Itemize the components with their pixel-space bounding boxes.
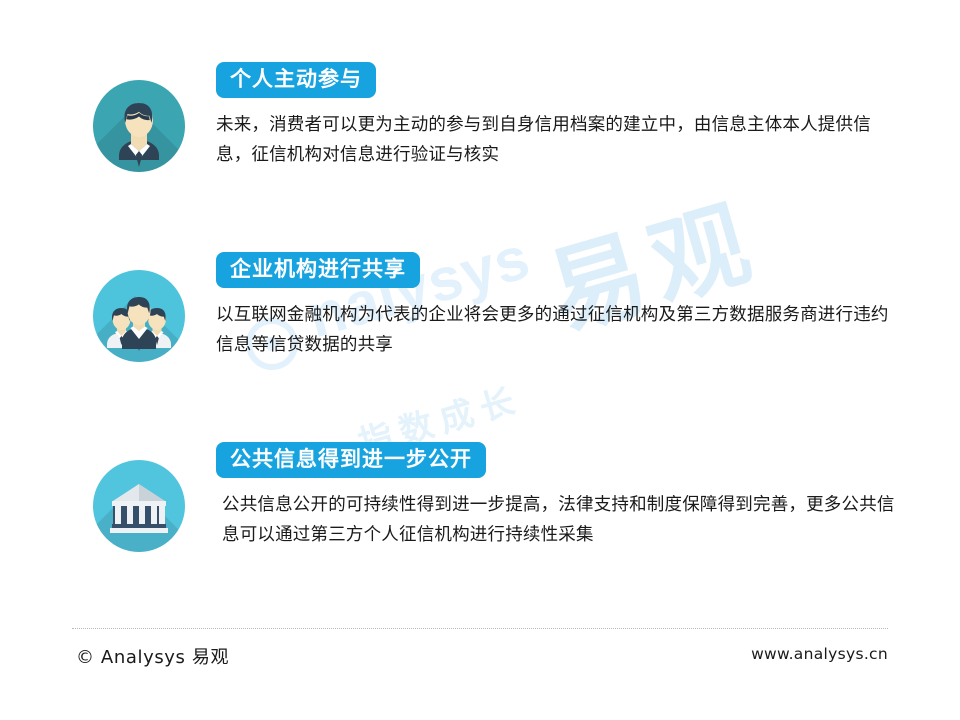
icon-circle-background (93, 80, 185, 172)
group-of-people-icon (93, 270, 185, 362)
section-icon-bank (93, 460, 185, 552)
businessman-avatar-icon (93, 80, 185, 172)
section-title-badge: 公共信息得到进一步公开 (216, 442, 486, 478)
section-body: 个人主动参与 未来，消费者可以更为主动的参与到自身信用档案的建立中，由信息主体本… (216, 62, 916, 170)
section-icon-group (93, 270, 185, 362)
section-paragraph: 以互联网金融机构为代表的企业将会更多的通过征信机构及第三方数据服务商进行违约信息… (216, 300, 906, 360)
section-title-badge: 个人主动参与 (216, 62, 376, 98)
footer-website[interactable]: www.analysys.cn (751, 645, 888, 663)
footer-copyright: © Analysys 易观 (76, 643, 229, 669)
section-icon-businessman (93, 80, 185, 172)
section-title-badge: 企业机构进行共享 (216, 252, 420, 288)
section-paragraph: 未来，消费者可以更为主动的参与到自身信用档案的建立中，由信息主体本人提供信息，征… (216, 110, 906, 170)
icon-circle-background (93, 270, 185, 362)
slide-canvas: nalysys 易观 指数成长 个人主动参与 未来，消费者可以更为主动的参 (0, 0, 960, 720)
bank-building-icon (93, 460, 185, 552)
section-body: 公共信息得到进一步公开 公共信息公开的可持续性得到进一步提高，法律支持和制度保障… (216, 442, 916, 550)
section-body: 企业机构进行共享 以互联网金融机构为代表的企业将会更多的通过征信机构及第三方数据… (216, 252, 916, 360)
footer-divider (72, 628, 888, 629)
icon-circle-background (93, 460, 185, 552)
section-paragraph: 公共信息公开的可持续性得到进一步提高，法律支持和制度保障得到完善，更多公共信息可… (216, 490, 906, 550)
